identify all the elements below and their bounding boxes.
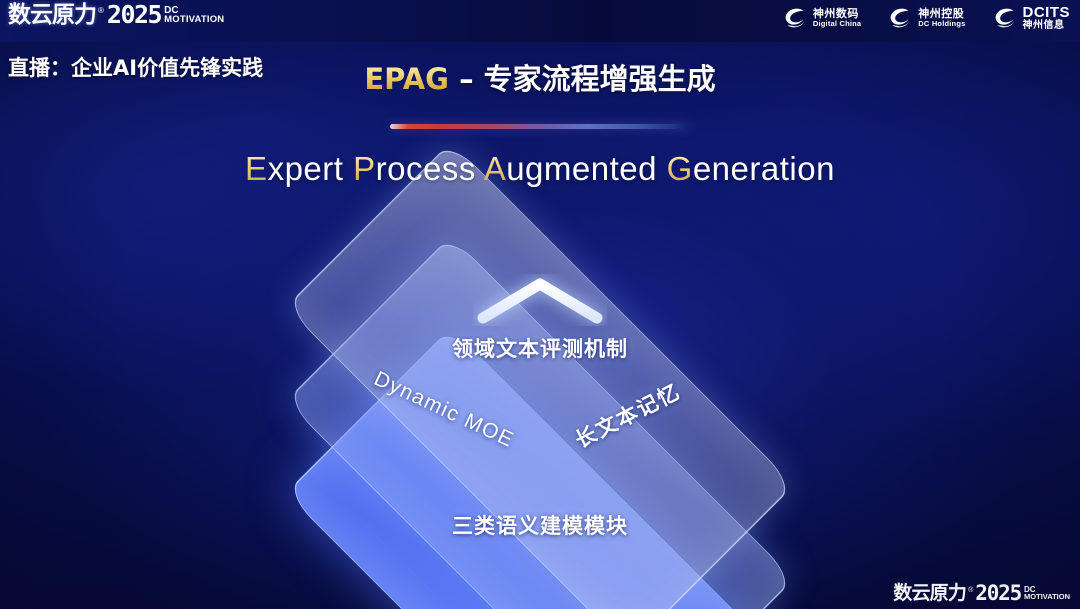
partner-logo-dc-holdings: 神州控股 DC Holdings bbox=[887, 5, 965, 31]
partner-text-dc-holdings: 神州控股 DC Holdings bbox=[918, 8, 965, 27]
subtitle-cap-g: G bbox=[667, 150, 693, 187]
subtitle-rest-xpert: xpert bbox=[268, 150, 344, 187]
swirl-icon bbox=[782, 5, 808, 31]
swirl-icon bbox=[887, 5, 913, 31]
slide-canvas: 领域文本评测机制 Dynamic MOE 长文本记忆 三类语义建模模块 EPAG… bbox=[0, 0, 1080, 609]
brand-logo-motivation: MOTIVATION bbox=[164, 15, 224, 25]
swirl-icon bbox=[992, 5, 1018, 31]
title-divider bbox=[390, 124, 690, 129]
watermark-year: 2025 bbox=[975, 583, 1021, 604]
watermark-cn: 数云原力 bbox=[893, 583, 966, 604]
brand-logo-year: 2025 bbox=[107, 2, 161, 28]
layer-top-label: 领域文本评测机制 bbox=[0, 333, 1080, 363]
partner-text-digital-china: 神州数码 Digital China bbox=[813, 8, 861, 27]
brand-logo-registered: ® bbox=[98, 6, 104, 16]
watermark-registered: ® bbox=[968, 587, 973, 594]
subtitle-word-expert: Expert bbox=[245, 150, 343, 187]
title-dash: – bbox=[449, 62, 484, 96]
subtitle-word-process: Process bbox=[353, 150, 476, 187]
layer-bottom-label: 三类语义建模模块 bbox=[0, 510, 1080, 540]
subtitle-rest-eneration: eneration bbox=[693, 150, 835, 187]
partner-en-digital-china: Digital China bbox=[813, 20, 861, 28]
brand-logo: 数云原力® 2025 DC MOTIVATION bbox=[8, 2, 224, 28]
live-stream-label: 直播：企业AI价值先锋实践 bbox=[8, 52, 263, 82]
brand-logo-cn: 数云原力 bbox=[8, 2, 96, 28]
subtitle-cap-p: P bbox=[353, 150, 376, 187]
watermark-motivation: MOTIVATION bbox=[1024, 593, 1070, 601]
subtitle-word-augmented: Augmented bbox=[484, 150, 657, 187]
watermark-dc-motivation: DC MOTIVATION bbox=[1024, 586, 1070, 601]
subtitle-cap-e: E bbox=[245, 150, 268, 187]
subtitle-word-generation: Generation bbox=[667, 150, 835, 187]
partner-logo-dcits: DCITS 神州信息 bbox=[992, 5, 1071, 31]
partner-logo-digital-china: 神州数码 Digital China bbox=[782, 5, 861, 31]
partner-cn-dcits: 神州信息 bbox=[1023, 21, 1071, 32]
footer-watermark: 数云原力® 2025 DC MOTIVATION bbox=[893, 583, 1070, 604]
page-subtitle: Expert Process Augmented Generation bbox=[0, 150, 1080, 188]
partner-en-dc-holdings: DC Holdings bbox=[918, 20, 965, 28]
partner-logos: 神州数码 Digital China 神州控股 DC Holdings DCIT… bbox=[782, 5, 1070, 31]
subtitle-rest-rocess: rocess bbox=[376, 150, 476, 187]
brand-logo-dc-motivation: DC MOTIVATION bbox=[164, 6, 224, 25]
chevron-up-icon bbox=[473, 274, 607, 326]
title-chinese: 专家流程增强生成 bbox=[484, 62, 716, 96]
title-acronym: EPAG bbox=[364, 62, 449, 96]
subtitle-rest-ugmented: ugmented bbox=[506, 150, 657, 187]
subtitle-cap-a: A bbox=[484, 150, 507, 187]
partner-en-dcits: DCITS bbox=[1023, 5, 1071, 21]
partner-text-dcits: DCITS 神州信息 bbox=[1023, 5, 1071, 31]
